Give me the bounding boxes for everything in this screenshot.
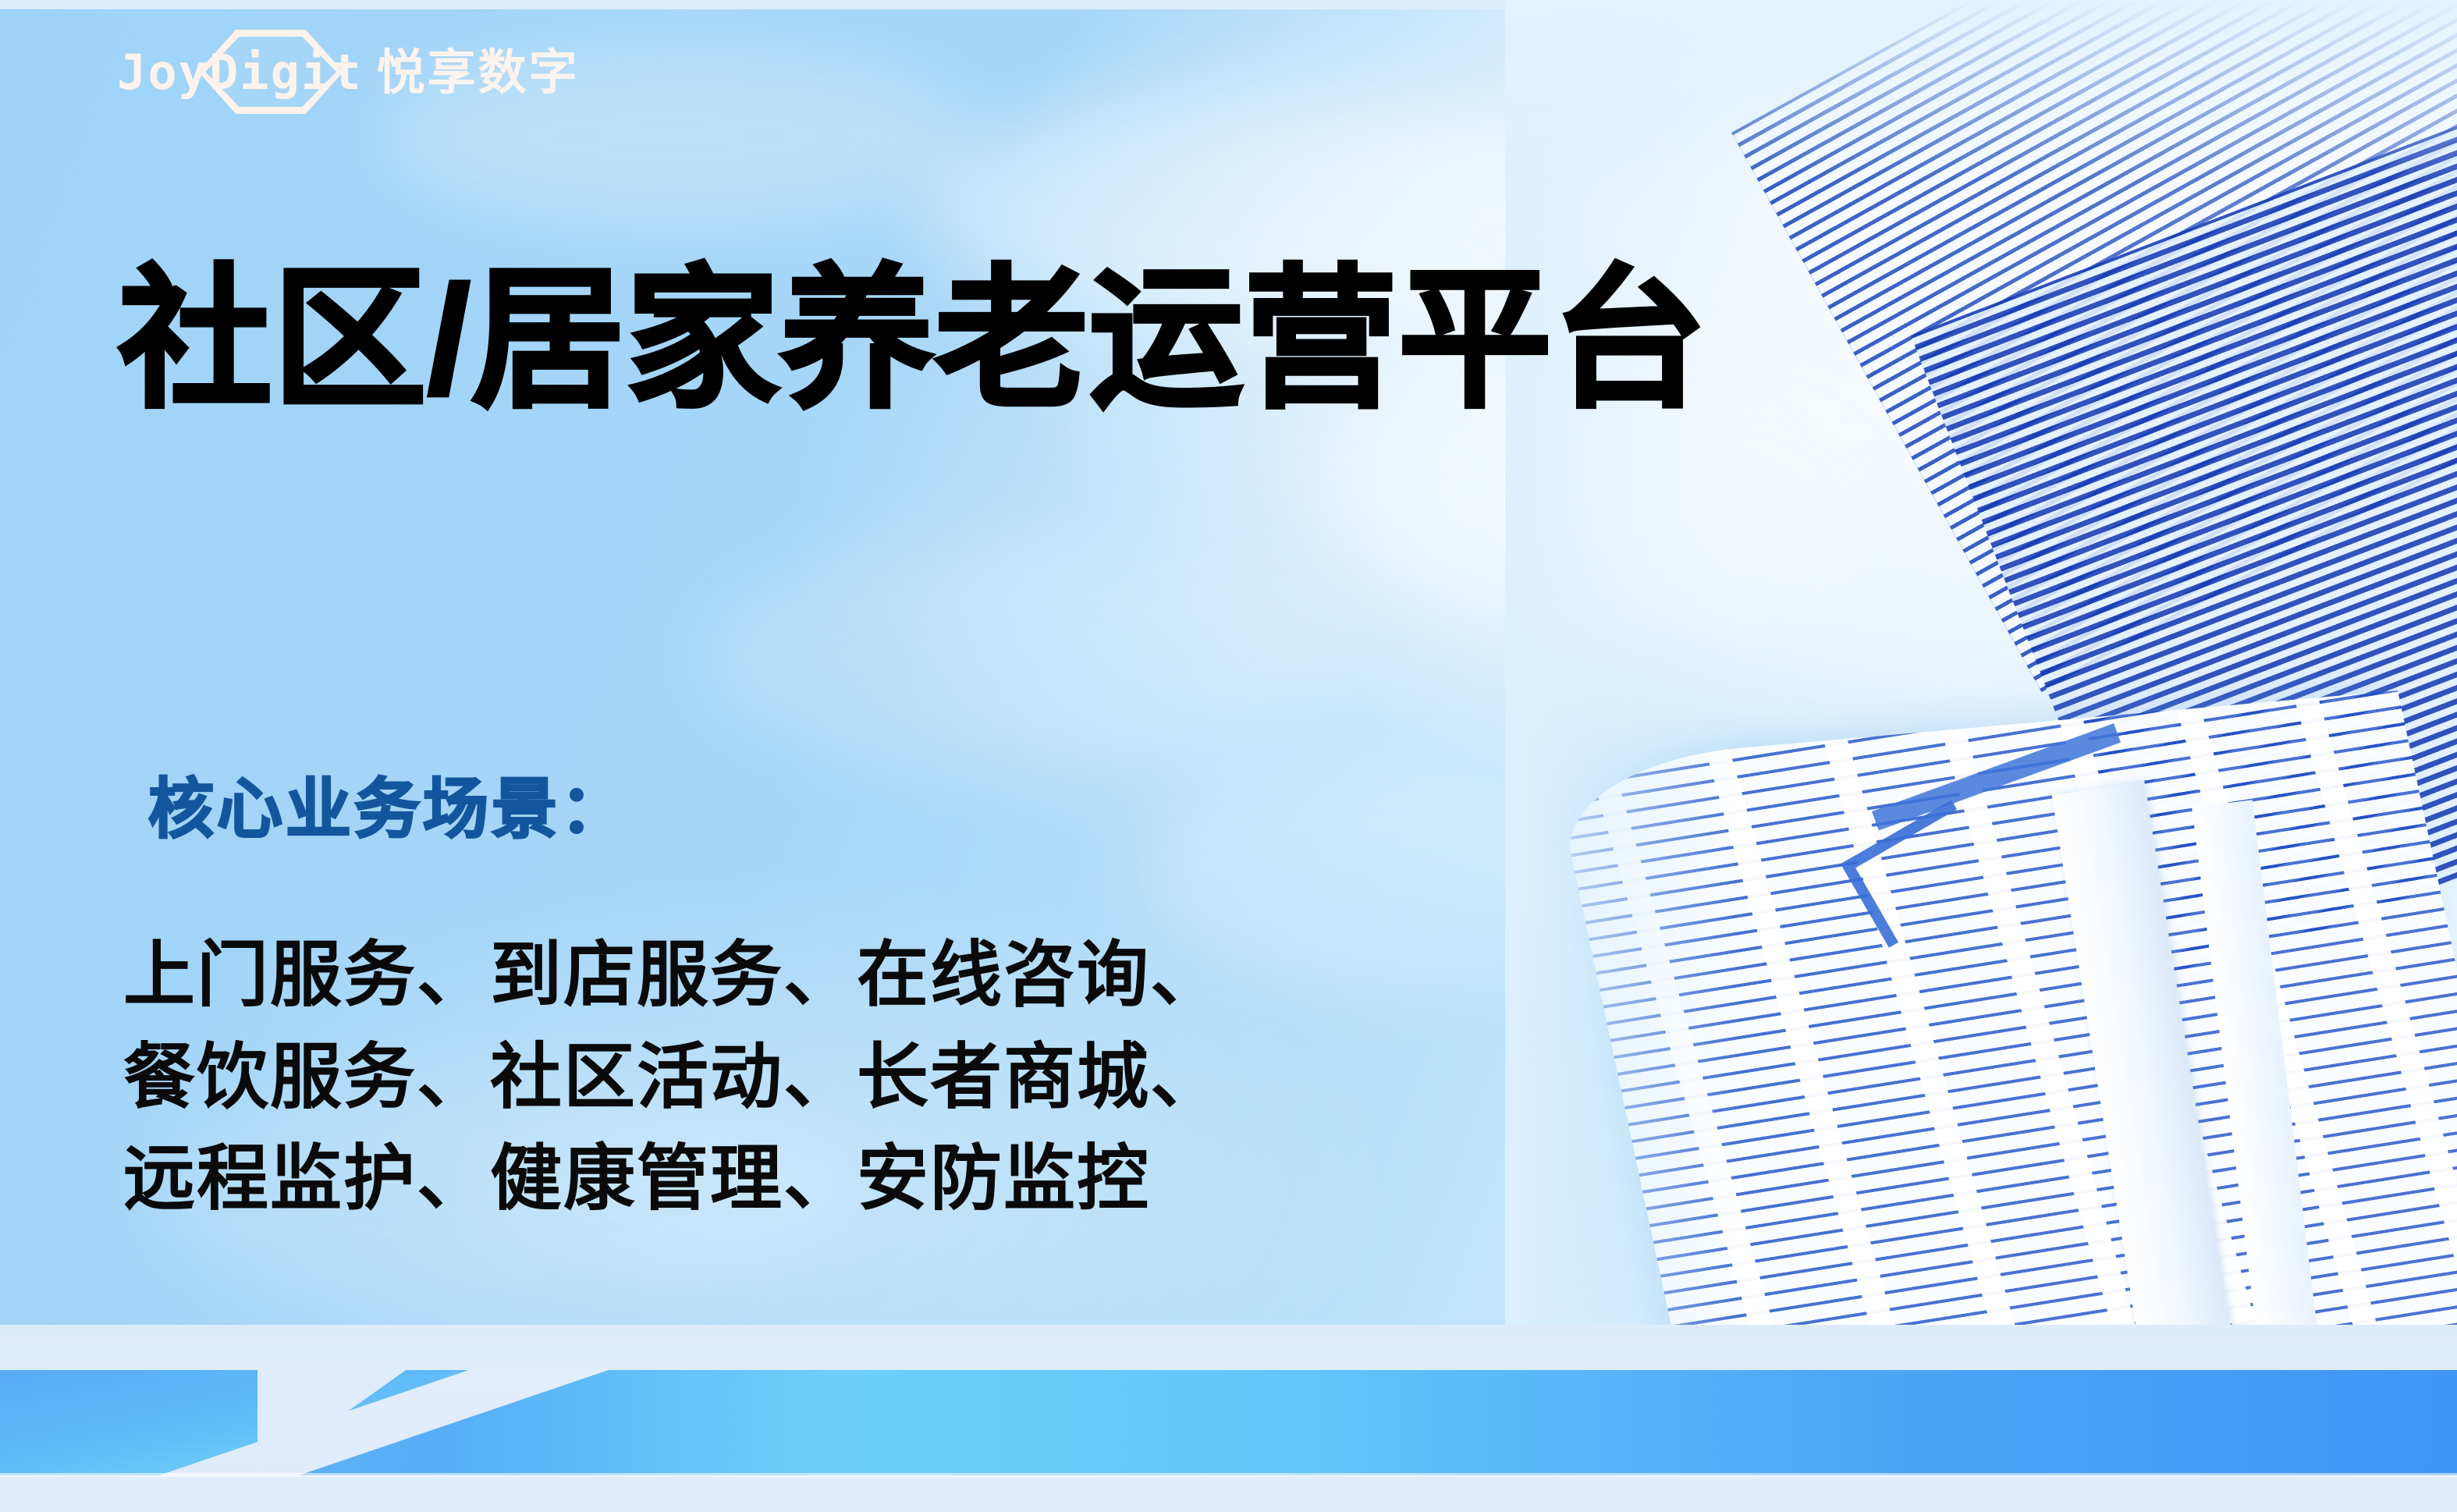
scenario-line-1: 上门服务、到店服务、在线咨询、 [123,925,1223,1027]
brand-logo-text: JoyDigit 悦享数字 [117,48,580,98]
brand-logo[interactable]: JoyDigit 悦享数字 [117,30,580,115]
scenario-line-3: 远程监护、健康管理、安防监控 [123,1128,1223,1230]
footer-underline [0,1473,2457,1477]
slide-root: JoyDigit 悦享数字 社区/居家养老运营平台 核心业务场景： 上门服务、到… [0,0,2457,1512]
brand-name-en: JoyDigit [117,48,363,97]
brand-name-cn: 悦享数字 [377,49,580,98]
building-left-fade [1505,0,1739,1397]
scenario-list: 上门服务、到店服务、在线咨询、 餐饮服务、社区活动、长者商城、 远程监护、健康管… [123,925,1223,1230]
scenario-line-2: 餐饮服务、社区活动、长者商城、 [123,1027,1223,1129]
building-top-fade [1505,0,2457,179]
footer-decoration [0,1325,2457,1512]
page-title: 社区/居家养老运营平台 [119,257,1707,423]
section-heading: 核心业务场景： [148,776,629,842]
skyscraper-image [1505,0,2457,1397]
